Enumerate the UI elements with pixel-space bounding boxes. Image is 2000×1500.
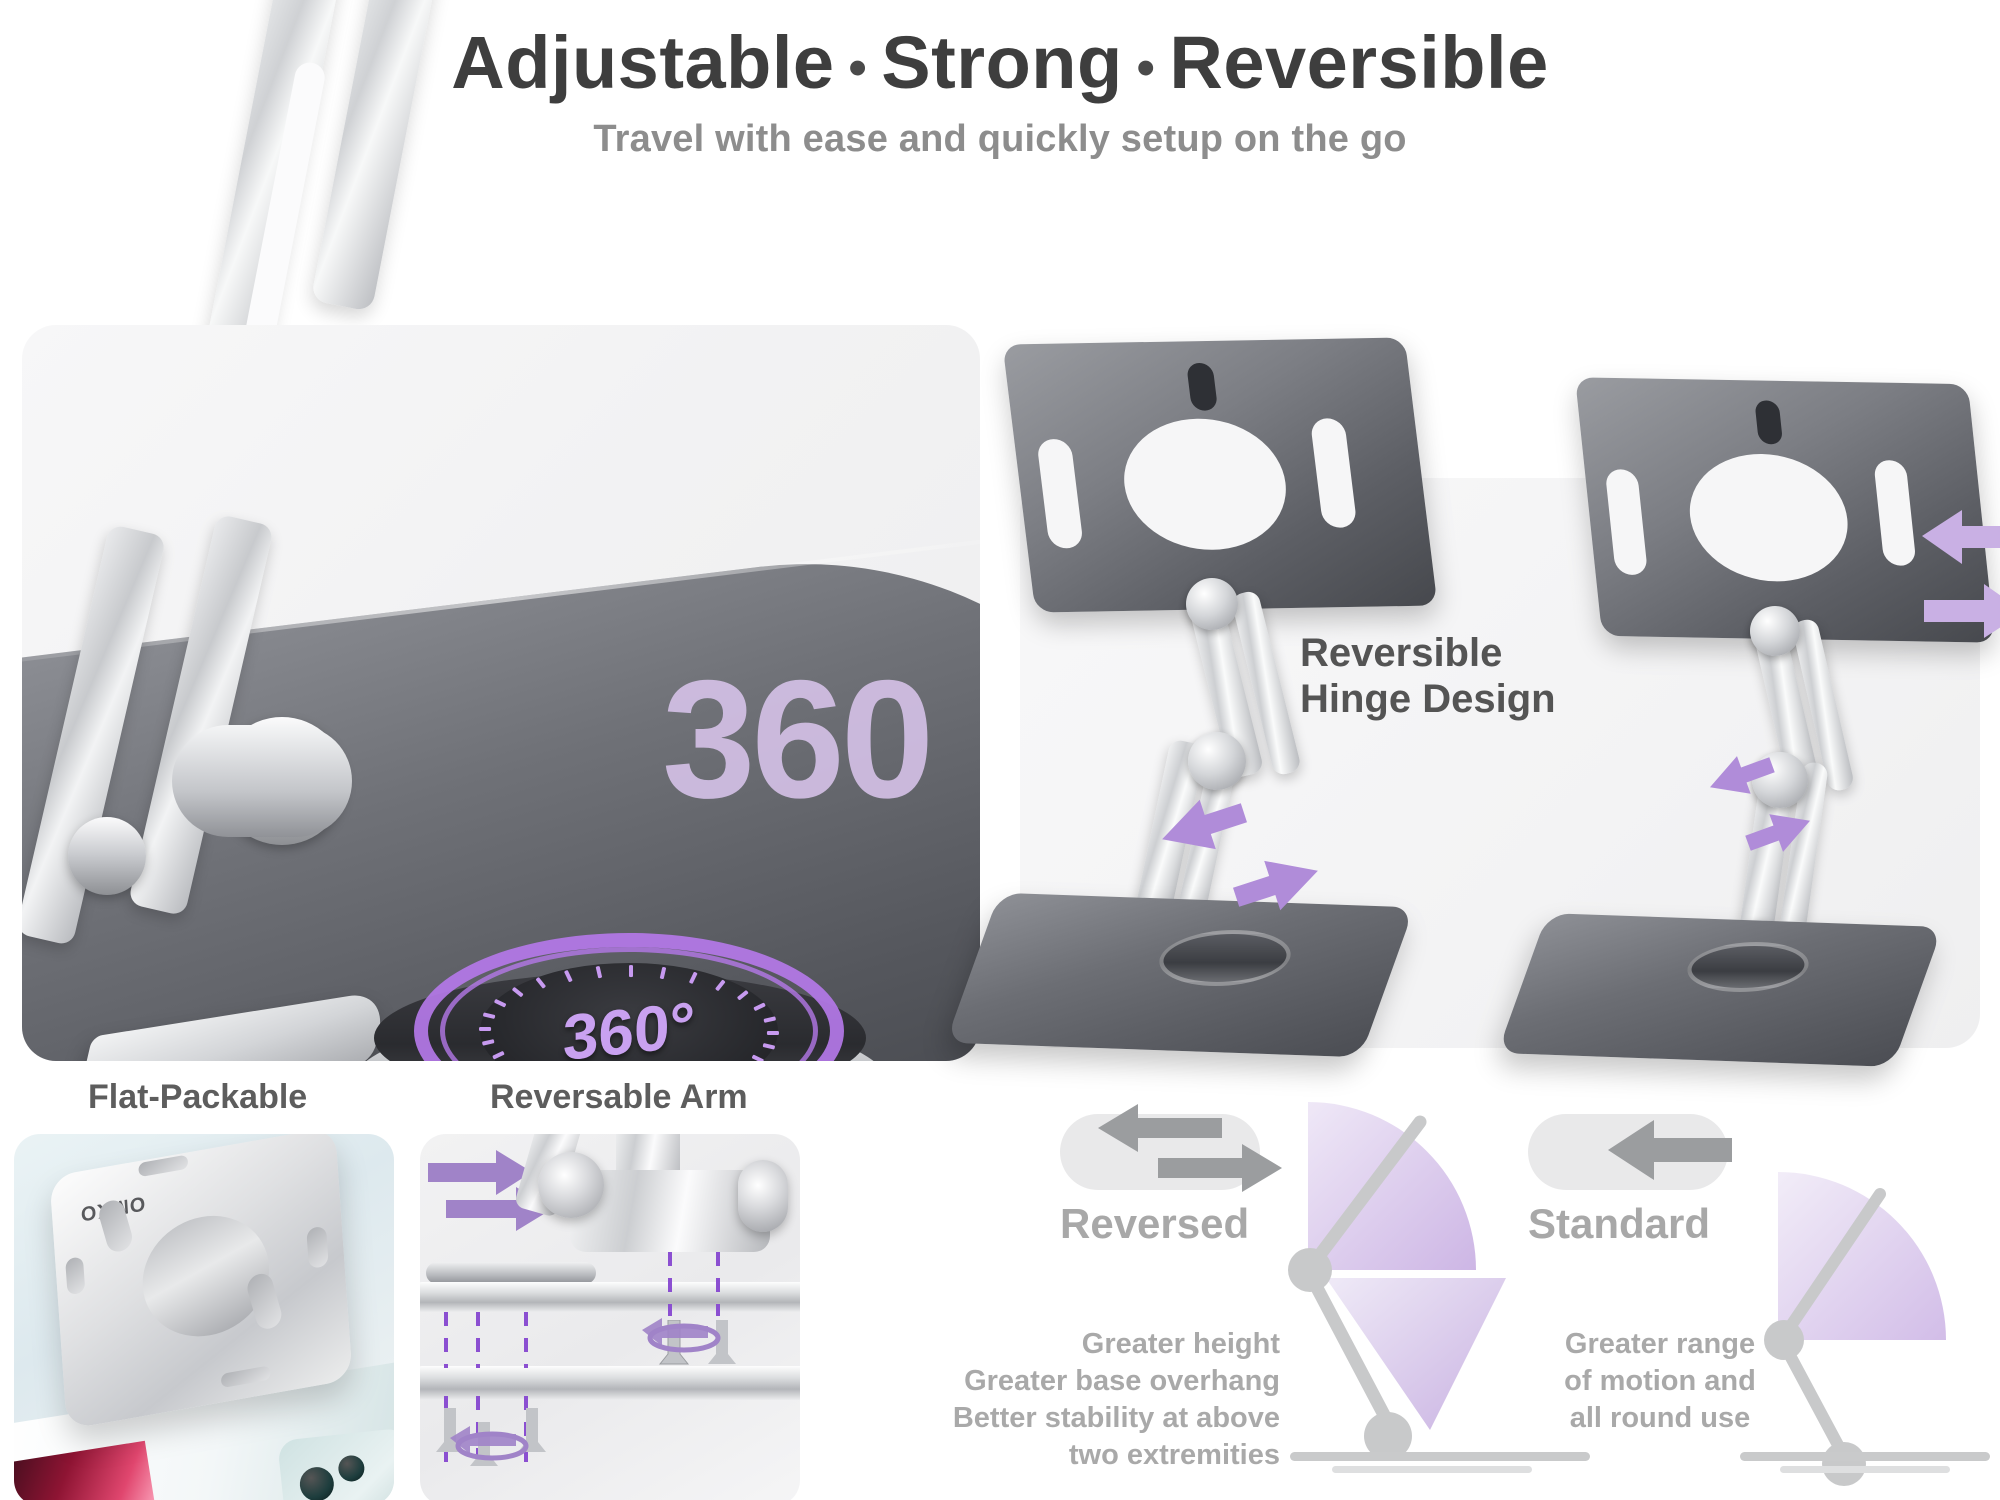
thumb2-axis-line-1 <box>444 1312 448 1368</box>
watermark-360: 360 <box>662 655 930 823</box>
infographic-root: Adjustable•Strong•Reversible Travel with… <box>0 0 2000 1500</box>
thumb2-axis-line-5 <box>716 1252 720 1316</box>
standard-range-fan <box>1760 1160 2000 1500</box>
standard-floor-line-2 <box>1780 1466 1950 1473</box>
stand-reversed-center-hole <box>1117 417 1294 551</box>
thumb2-hinge-knob-right <box>738 1160 788 1232</box>
thumb2-axis-line-3 <box>524 1312 528 1368</box>
comparison-title-standard: Standard <box>1528 1200 1710 1248</box>
thumb2-disc-edge <box>426 1262 596 1284</box>
thumb2-axis-line-4 <box>668 1252 672 1316</box>
thumb1-clip-tl <box>138 1154 188 1177</box>
badge-360: 360° <box>414 933 844 1061</box>
hero-hinge-knob-small <box>68 817 146 895</box>
stand-reversed-slot-right <box>1310 418 1358 528</box>
stand-reversed-camera-cutout <box>1186 363 1218 411</box>
thumb1-clip-tr <box>306 1226 329 1270</box>
double-arrow-icon-left <box>1150 790 1330 920</box>
thumb2-axis-line-2 <box>476 1312 480 1368</box>
thumb1-phone-camera-1 <box>298 1465 335 1500</box>
hero-hinge-bar <box>172 725 352 837</box>
thumb1-clip-bl <box>65 1256 85 1295</box>
thumb1-phone <box>277 1427 394 1500</box>
thumb2-rotate-icon-2 <box>440 1420 540 1466</box>
comparison-title-reversed: Reversed <box>1060 1200 1249 1248</box>
thumb1-phone-camera-2 <box>337 1454 366 1483</box>
stand-reversed-hinge-knob-top <box>1186 578 1238 630</box>
thumb-label-flat-packable: Flat-Packable <box>88 1078 307 1117</box>
stand-standard-slot-right <box>1873 460 1916 566</box>
thumb1-slot-bottom <box>244 1270 284 1333</box>
stand-reversed-slot-left <box>1036 439 1084 549</box>
stand-reversed-back-plate <box>1002 337 1437 612</box>
thumb1-folded-stand: OMKO <box>49 1134 352 1430</box>
hero-360-panel: 360 360° <box>22 325 980 1061</box>
title-separator-2: • <box>1123 39 1170 97</box>
thumb-reversable-arm[interactable] <box>420 1134 800 1500</box>
stand-reversed-hinge-knob-mid <box>1188 732 1246 790</box>
thumb2-plate-lower <box>420 1366 800 1400</box>
reversible-hinge-caption: Reversible Hinge Design <box>1300 630 1720 722</box>
reversed-floor-line <box>1290 1452 1590 1461</box>
thumb2-plate-upper <box>420 1282 800 1312</box>
title-separator-1: • <box>835 39 882 97</box>
double-arrow-icon-right <box>1700 750 1820 860</box>
hinge-caption-line-1: Reversible <box>1300 630 1720 676</box>
thumb-flat-packable[interactable]: OMKO <box>14 1134 394 1500</box>
comparison-body-reversed: Greater height Greater base overhang Bet… <box>860 1326 1280 1474</box>
reversed-floor-line-2 <box>1332 1466 1532 1473</box>
hinge-caption-line-2: Hinge Design <box>1300 676 1720 722</box>
thumb-label-reversable-arm: Reversable Arm <box>490 1078 748 1117</box>
arrow-left-icon <box>1600 1098 1740 1198</box>
stand-standard-center-hole <box>1683 453 1854 583</box>
thumb2-rotate-icon-1 <box>632 1312 732 1358</box>
title-word-adjustable: Adjustable <box>451 21 834 104</box>
stand-standard-camera-cutout <box>1754 400 1783 444</box>
title-word-reversible: Reversible <box>1169 21 1548 104</box>
stand-standard-hinge-knob-top <box>1750 606 1800 656</box>
standard-floor-line <box>1740 1452 1990 1461</box>
thumb1-clip-br <box>221 1365 271 1388</box>
double-arrow-icon-far-right <box>1918 500 2000 650</box>
stand-standard-slot-left <box>1605 469 1648 575</box>
swap-arrows-icon <box>1090 1098 1290 1198</box>
thumb2-hinge-knob <box>538 1152 604 1218</box>
title-word-strong: Strong <box>881 21 1122 104</box>
